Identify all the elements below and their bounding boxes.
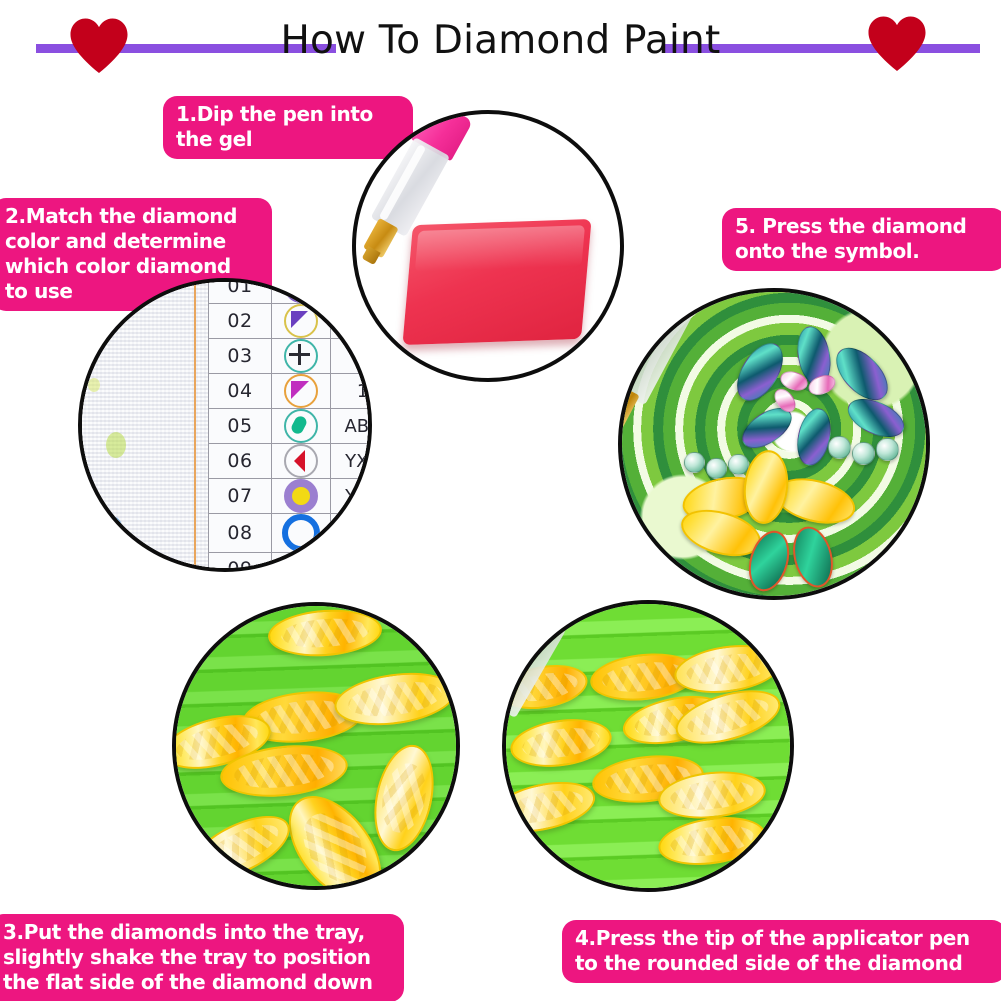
chart-symbol-cell xyxy=(272,374,331,409)
photo-diamonds-in-tray xyxy=(176,606,456,886)
table-row: 08 YX106 xyxy=(209,514,373,553)
photo-pen-picking-diamond xyxy=(506,604,790,888)
canvas-symbol-mark xyxy=(106,432,126,458)
chart-code: 028 xyxy=(331,278,373,304)
photo-pen-dipping-gel xyxy=(356,114,620,378)
chart-code: 111 xyxy=(331,339,373,374)
pen-barrel xyxy=(618,295,694,406)
chart-number: 07 xyxy=(209,479,272,514)
table-row: 09 YX125 xyxy=(209,553,373,573)
canvas-round-gem xyxy=(876,438,899,461)
canvas-round-gem xyxy=(828,436,851,459)
triangle-symbol-icon xyxy=(284,304,318,338)
chart-symbol-cell xyxy=(272,278,331,304)
color-chart-table: 01 028 02 xyxy=(208,278,372,572)
canvas-gem xyxy=(792,405,835,468)
chart-number: 02 xyxy=(209,304,272,339)
step-5-label: 5. Press the diamond onto the symbol. xyxy=(722,208,1001,271)
table-row: 07 YX083 xyxy=(209,479,373,514)
step-4-label: 4.Press the tip of the applicator pen to… xyxy=(562,920,1001,983)
table-row: 02 093 xyxy=(209,304,373,339)
diamond-gem xyxy=(181,803,299,890)
color-chart-body: 01 028 02 xyxy=(209,278,373,572)
chart-symbol-cell xyxy=(272,339,331,374)
applicator-pen xyxy=(618,295,694,455)
chart-symbol-cell xyxy=(272,514,331,553)
diamond-gem xyxy=(655,811,768,872)
gel-pad xyxy=(402,219,591,345)
step-5-photo-circle xyxy=(618,288,930,600)
chart-symbol-cell xyxy=(272,304,331,339)
canvas-symbol-mark xyxy=(100,516,122,538)
chart-number: 01 xyxy=(209,278,272,304)
diamond-gem xyxy=(365,739,442,856)
step-3-photo-circle xyxy=(172,602,460,890)
capsule-symbol-icon xyxy=(284,409,318,443)
chart-code: AB004 xyxy=(331,409,373,444)
diamond-gem xyxy=(507,713,614,773)
table-row: 05 AB004 xyxy=(209,409,373,444)
photo-color-chart: 01 028 02 xyxy=(82,282,368,568)
table-row: 01 028 xyxy=(209,278,373,304)
chart-symbol-cell xyxy=(272,479,331,514)
step-4-photo-circle xyxy=(502,600,794,892)
disc-symbol-icon xyxy=(284,479,318,513)
diamond-gem xyxy=(671,639,784,700)
leaf-symbol-icon xyxy=(281,557,321,573)
chart-code: YX106 xyxy=(331,514,373,553)
diamond-gem xyxy=(502,773,600,840)
table-row: 03 111 xyxy=(209,339,373,374)
chart-code: 093 xyxy=(331,304,373,339)
chart-guide-line xyxy=(194,282,196,568)
step-3-label: 3.Put the diamonds into the tray, slight… xyxy=(0,914,404,1001)
wedge-symbol-icon xyxy=(284,374,318,408)
chart-number: 06 xyxy=(209,444,272,479)
arrow-symbol-icon xyxy=(284,444,318,478)
chart-number: 03 xyxy=(209,339,272,374)
chart-number: 09 xyxy=(209,553,272,573)
canvas-symbol-mark xyxy=(88,378,100,392)
table-row: 06 YX058 xyxy=(209,444,373,479)
chart-number: 08 xyxy=(209,514,272,553)
table-row: 04 195 xyxy=(209,374,373,409)
photo-mandala-canvas xyxy=(622,292,926,596)
canvas-fabric xyxy=(82,282,212,568)
chart-code: 195 xyxy=(331,374,373,409)
diamond-gem xyxy=(267,606,384,660)
ring-symbol-icon xyxy=(282,514,320,552)
chart-code: YX083 xyxy=(331,479,373,514)
chart-code: YX058 xyxy=(331,444,373,479)
step-1-photo-circle xyxy=(352,110,624,382)
plus-symbol-icon xyxy=(284,339,318,373)
chart-code: YX125 xyxy=(331,553,373,573)
chart-symbol-cell xyxy=(272,409,331,444)
canvas-round-gem xyxy=(706,458,727,479)
canvas-teal-gem xyxy=(787,522,839,591)
infographic-page: How To Diamond Paint 1.Dip the pen into … xyxy=(0,0,1001,1001)
canvas-round-gem xyxy=(852,442,875,465)
step-2-photo-circle: 01 028 02 xyxy=(78,278,372,572)
chart-number: 04 xyxy=(209,374,272,409)
page-title: How To Diamond Paint xyxy=(0,16,1001,66)
smile-symbol-icon xyxy=(284,278,318,303)
chart-symbol-cell xyxy=(272,553,331,573)
chart-number: 05 xyxy=(209,409,272,444)
chart-symbol-cell xyxy=(272,444,331,479)
canvas-round-gem xyxy=(684,452,705,473)
